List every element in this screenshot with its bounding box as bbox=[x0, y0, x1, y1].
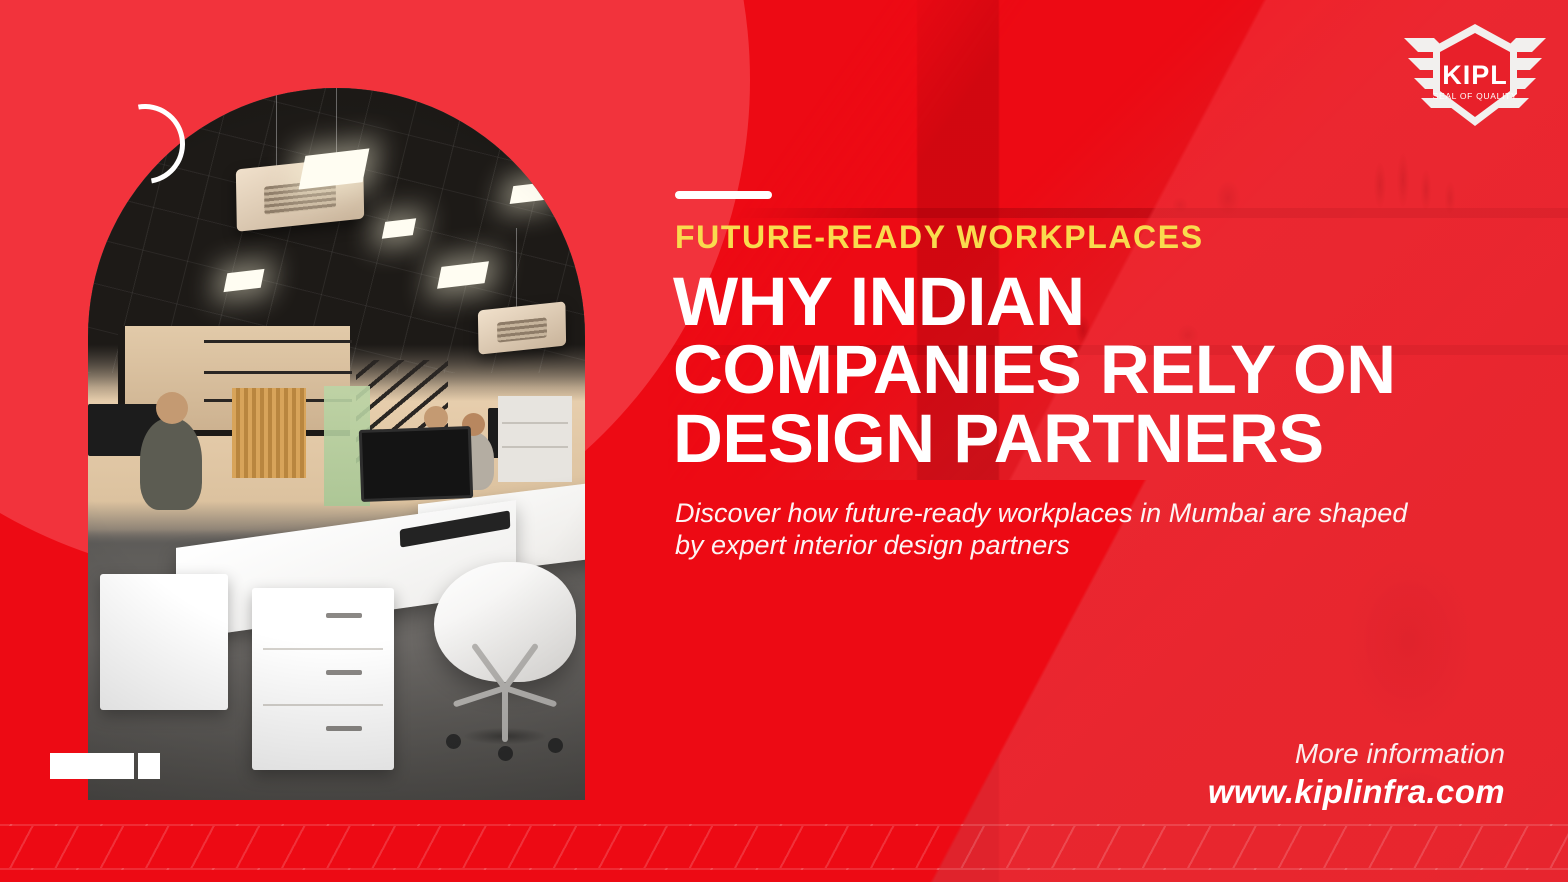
white-bar-small-icon bbox=[138, 753, 160, 779]
promo-banner: FUTURE-READY WORKPLACES WHY INDIAN COMPA… bbox=[0, 0, 1568, 882]
hero-subheadline: Discover how future-ready workplaces in … bbox=[675, 498, 1435, 562]
more-information-label: More information bbox=[1208, 738, 1505, 770]
photo-vignette bbox=[88, 88, 585, 800]
svg-text:KIPL: KIPL bbox=[1442, 60, 1508, 90]
footer-contact: More information www.kiplinfra.com bbox=[1208, 738, 1505, 812]
svg-text:SEAL OF QUALITY: SEAL OF QUALITY bbox=[1433, 91, 1518, 101]
website-url[interactable]: www.kiplinfra.com bbox=[1208, 772, 1505, 812]
page-title: WHY INDIAN COMPANIES RELY ON DESIGN PART… bbox=[673, 268, 1483, 473]
horizontal-rule-accent-icon bbox=[675, 191, 772, 199]
office-photo bbox=[88, 88, 585, 800]
kipl-winged-shield-logo-icon[interactable]: KIPL SEAL OF QUALITY bbox=[1400, 14, 1550, 138]
hero-eyebrow: FUTURE-READY WORKPLACES bbox=[675, 219, 1495, 256]
office-image-panel bbox=[88, 88, 585, 800]
white-bar-wide-icon bbox=[50, 753, 134, 779]
